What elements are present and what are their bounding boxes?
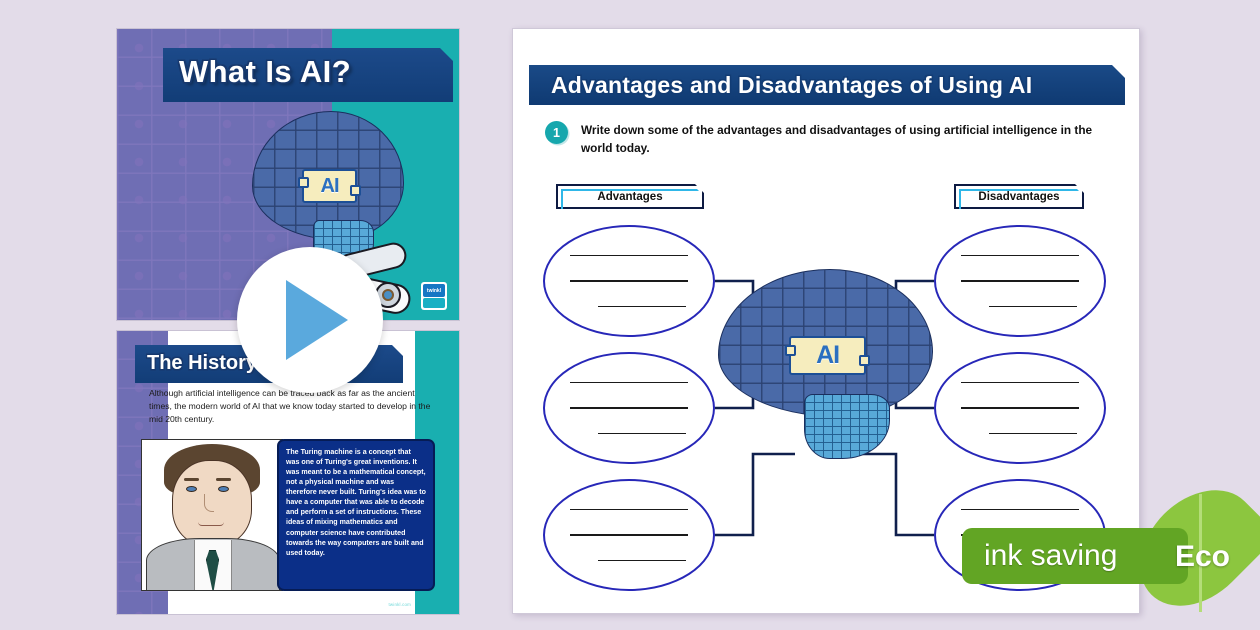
writing-line xyxy=(570,534,688,536)
portrait-brow-left xyxy=(184,478,199,481)
circuit-traces-icon xyxy=(805,395,889,458)
badge-bottom xyxy=(423,298,445,307)
portrait-brow-right xyxy=(216,478,231,481)
writing-line xyxy=(598,560,686,562)
eco-bar: ink saving xyxy=(962,528,1188,584)
oval-advantage-3[interactable] xyxy=(543,479,715,591)
ink-saving-eco-badge: ink saving Eco xyxy=(962,528,1250,584)
twinkl-badge-icon: twinkl xyxy=(421,282,447,310)
oval-disadvantage-2[interactable] xyxy=(934,352,1106,464)
alan-turing-portrait xyxy=(141,439,283,591)
writing-line xyxy=(989,306,1077,308)
slide2-footer: twinkl.com xyxy=(389,602,412,607)
ink-saving-label: ink saving xyxy=(984,539,1117,573)
oval-advantage-1[interactable] xyxy=(543,225,715,337)
worksheet-page[interactable]: Advantages and Disadvantages of Using AI… xyxy=(512,28,1140,614)
portrait-eye-right xyxy=(218,486,229,492)
slide2-title: The History xyxy=(147,352,257,375)
slide1-title: What Is AI? xyxy=(179,54,459,90)
writing-line xyxy=(598,433,686,435)
portrait-mouth xyxy=(198,522,224,526)
oval-disadvantage-1[interactable] xyxy=(934,225,1106,337)
writing-line xyxy=(570,280,688,282)
writing-line xyxy=(961,382,1079,384)
writing-line xyxy=(570,509,688,511)
writing-line xyxy=(598,306,686,308)
ai-brain-illustration: AI xyxy=(718,269,933,459)
writing-line xyxy=(570,382,688,384)
oval-advantage-2[interactable] xyxy=(543,352,715,464)
slide2-body-text: Although artificial intelligence can be … xyxy=(149,387,435,426)
writing-line xyxy=(989,433,1077,435)
ai-chip-badge: AI xyxy=(302,169,357,204)
badge-top: twinkl xyxy=(423,284,445,297)
brain-stem xyxy=(804,394,890,459)
ai-chip-badge: AI xyxy=(789,336,866,376)
writing-line xyxy=(570,407,688,409)
writing-line xyxy=(570,255,688,257)
portrait-nose xyxy=(204,494,214,512)
play-button[interactable] xyxy=(237,247,383,393)
screenshot-root: What Is AI? AI twinkl twinkl xyxy=(0,0,1260,630)
writing-line xyxy=(961,280,1079,282)
writing-line xyxy=(961,509,1079,511)
portrait-eye-left xyxy=(186,486,197,492)
writing-line xyxy=(961,407,1079,409)
eco-label: Eco xyxy=(1175,540,1230,574)
turing-machine-textbox: The Turing machine is a concept that was… xyxy=(277,439,435,591)
play-triangle-icon xyxy=(286,280,348,360)
writing-line xyxy=(961,255,1079,257)
